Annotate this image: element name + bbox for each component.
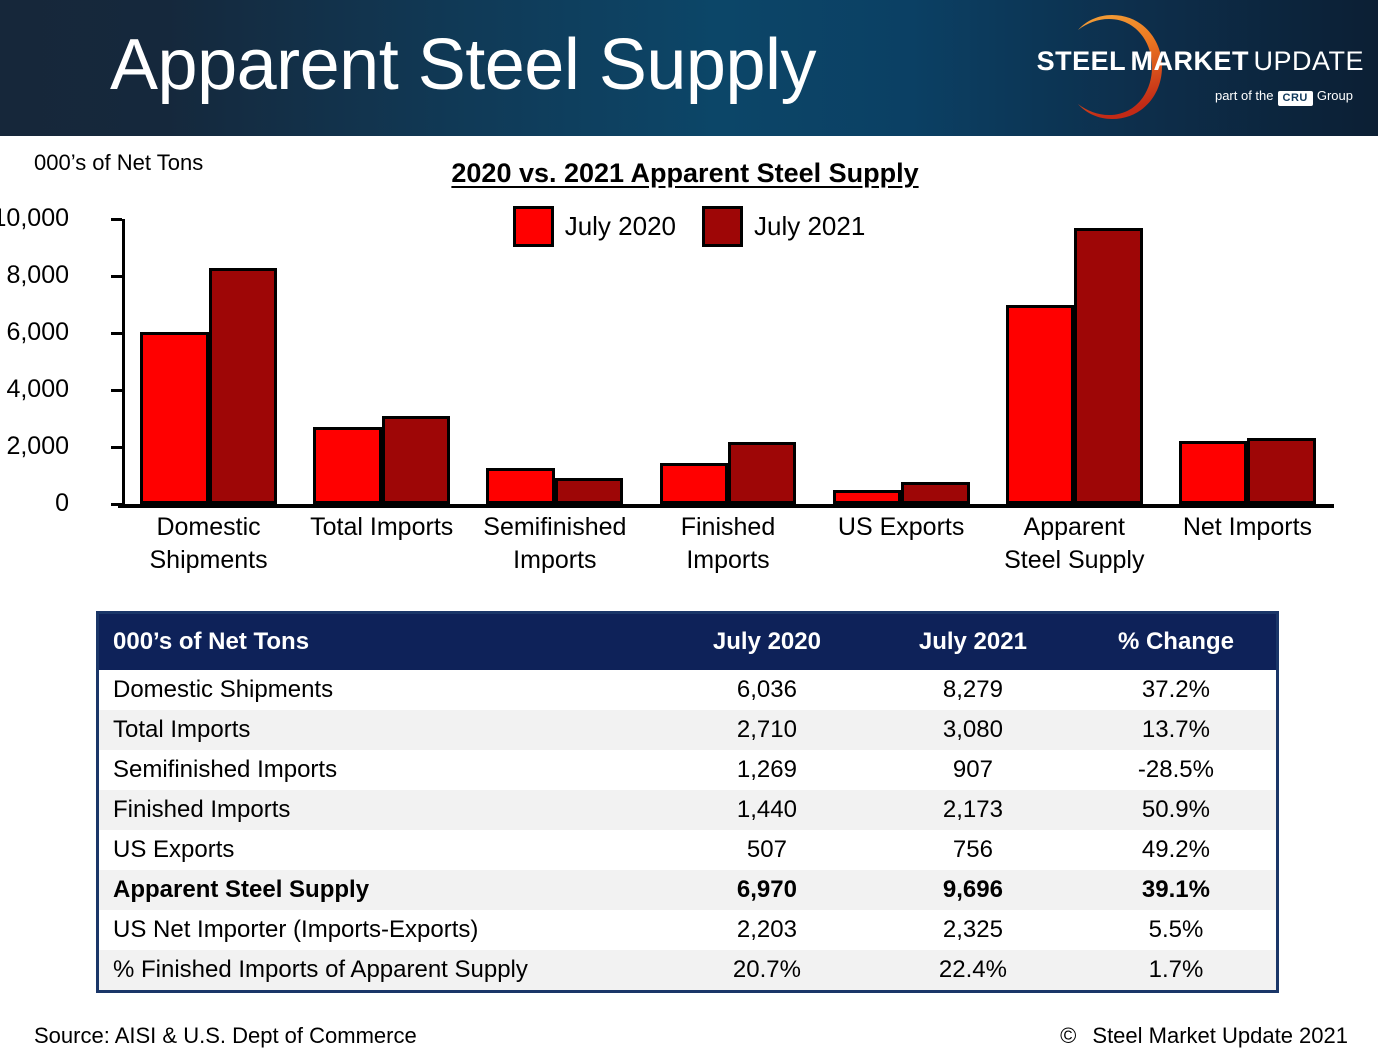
bar-july-2020 (1006, 305, 1074, 504)
bar-july-2020 (313, 427, 381, 504)
copyright-text: Steel Market Update 2021 (1092, 1023, 1348, 1048)
y-axis-tick (111, 446, 122, 449)
row-label: Finished Imports (99, 790, 664, 830)
x-axis-label-line: Semifinished (468, 511, 641, 544)
x-axis-label-line: US Exports (815, 511, 988, 544)
cell-july-2020: 20.7% (664, 950, 870, 990)
copyright-symbol: © (1060, 1023, 1076, 1048)
cell-july-2020: 2,710 (664, 710, 870, 750)
bar-july-2021 (728, 442, 796, 504)
chart-title-text: 2020 vs. 2021 Apparent Steel Supply (451, 158, 918, 188)
cell-july-2020: 2,203 (664, 910, 870, 950)
y-axis-tick (111, 218, 122, 221)
y-axis-tick-label: 10,000 (0, 206, 69, 231)
logo-sub-pre: part of the (1215, 88, 1274, 103)
cell-july-2020: 6,036 (664, 670, 870, 710)
bar-group (295, 219, 468, 504)
bar-july-2020 (140, 332, 208, 504)
cell-july-2021: 2,173 (870, 790, 1076, 830)
cell-pct-change: 49.2% (1076, 830, 1276, 870)
cell-pct-change: 39.1% (1076, 870, 1276, 910)
source-note: Source: AISI & U.S. Dept of Commerce (34, 1023, 417, 1049)
bar-group (815, 219, 988, 504)
cell-july-2021: 9,696 (870, 870, 1076, 910)
cell-july-2021: 907 (870, 750, 1076, 790)
bar-july-2021 (555, 478, 623, 504)
x-axis-category-label: SemifinishedImports (468, 511, 641, 577)
y-axis-tick-label: 8,000 (0, 263, 69, 288)
table-header-pct-change: % Change (1076, 614, 1276, 670)
x-axis-label-line: Imports (468, 544, 641, 577)
row-label: % Finished Imports of Apparent Supply (99, 950, 664, 990)
row-label: Apparent Steel Supply (99, 870, 664, 910)
bar-july-2021 (1074, 228, 1142, 504)
row-label: US Exports (99, 830, 664, 870)
x-axis-label-line: Imports (641, 544, 814, 577)
data-table: 000’s of Net Tons July 2020 July 2021 % … (96, 611, 1279, 993)
row-label: Domestic Shipments (99, 670, 664, 710)
x-axis-label-line: Finished (641, 511, 814, 544)
x-axis-category-label: DomesticShipments (122, 511, 295, 577)
y-axis-tick-label: 2,000 (0, 434, 69, 459)
table-header-july-2020: July 2020 (664, 614, 870, 670)
logo-subline: part of theCRUGroup (1004, 88, 1353, 105)
y-axis-tick (111, 503, 122, 506)
logo-wordmark: STEEL MARKET UPDATE (1004, 46, 1364, 77)
cell-july-2020: 1,440 (664, 790, 870, 830)
table-row: US Net Importer (Imports-Exports)2,2032,… (99, 910, 1276, 950)
cell-july-2020: 507 (664, 830, 870, 870)
y-axis-tick (111, 275, 122, 278)
logo-word-update: UPDATE (1253, 46, 1364, 76)
y-axis-tick-label: 6,000 (0, 320, 69, 345)
bar-july-2021 (1247, 438, 1315, 504)
table-row: Domestic Shipments6,0368,27937.2% (99, 670, 1276, 710)
table-header-metric: 000’s of Net Tons (99, 614, 664, 670)
bar-july-2021 (382, 416, 450, 504)
x-axis-category-label: FinishedImports (641, 511, 814, 577)
x-axis-label-line: Net Imports (1161, 511, 1334, 544)
chart-plot-area: 02,0004,0006,0008,00010,000DomesticShipm… (122, 219, 1334, 504)
bar-july-2020 (660, 463, 728, 504)
bar-july-2020 (1179, 441, 1247, 504)
cell-july-2020: 6,970 (664, 870, 870, 910)
cell-pct-change: 13.7% (1076, 710, 1276, 750)
cell-july-2020: 1,269 (664, 750, 870, 790)
table-row: Finished Imports1,4402,17350.9% (99, 790, 1276, 830)
y-axis-tick (111, 389, 122, 392)
cell-pct-change: 50.9% (1076, 790, 1276, 830)
table-header-row: 000’s of Net Tons July 2020 July 2021 % … (99, 614, 1276, 670)
x-axis-label-line: Apparent (988, 511, 1161, 544)
y-axis-tick-label: 4,000 (0, 377, 69, 402)
x-axis-category-label: US Exports (815, 511, 988, 544)
x-axis-label-line: Domestic (122, 511, 295, 544)
x-axis-label-line: Total Imports (295, 511, 468, 544)
cell-pct-change: -28.5% (1076, 750, 1276, 790)
logo-sub-post: Group (1317, 88, 1353, 103)
table-body: Domestic Shipments6,0368,27937.2%Total I… (99, 670, 1276, 990)
cell-july-2021: 2,325 (870, 910, 1076, 950)
table-row: Semifinished Imports1,269907-28.5% (99, 750, 1276, 790)
bar-group (468, 219, 641, 504)
row-label: Semifinished Imports (99, 750, 664, 790)
bar-group (122, 219, 295, 504)
row-label: US Net Importer (Imports-Exports) (99, 910, 664, 950)
bar-group (1161, 219, 1334, 504)
y-axis-tick-label: 0 (0, 491, 69, 516)
x-axis-category-label: Total Imports (295, 511, 468, 544)
cru-badge: CRU (1278, 91, 1313, 106)
cell-july-2021: 756 (870, 830, 1076, 870)
row-label: Total Imports (99, 710, 664, 750)
bar-july-2020 (833, 490, 901, 504)
logo-word-market: MARKET (1131, 46, 1250, 76)
table-row: Apparent Steel Supply6,9709,69639.1% (99, 870, 1276, 910)
bar-july-2021 (901, 482, 969, 504)
chart-title: 2020 vs. 2021 Apparent Steel Supply (0, 158, 1378, 189)
table-row: US Exports50775649.2% (99, 830, 1276, 870)
cell-july-2021: 3,080 (870, 710, 1076, 750)
page-title: Apparent Steel Supply (110, 22, 816, 108)
steel-market-update-logo: STEEL MARKET UPDATE part of theCRUGroup (1004, 10, 1364, 125)
x-axis-label-line: Steel Supply (988, 544, 1161, 577)
x-axis-category-label: Net Imports (1161, 511, 1334, 544)
bar-group (988, 219, 1161, 504)
cell-july-2021: 22.4% (870, 950, 1076, 990)
table-row: % Finished Imports of Apparent Supply20.… (99, 950, 1276, 990)
x-axis-line (118, 504, 1334, 508)
bar-july-2021 (209, 268, 277, 504)
x-axis-category-label: ApparentSteel Supply (988, 511, 1161, 577)
table-row: Total Imports2,7103,08013.7% (99, 710, 1276, 750)
cell-july-2021: 8,279 (870, 670, 1076, 710)
page-header: Apparent Steel Supply STEEL MARKET UPDAT… (0, 0, 1378, 136)
cell-pct-change: 1.7% (1076, 950, 1276, 990)
cell-pct-change: 5.5% (1076, 910, 1276, 950)
bar-group (641, 219, 814, 504)
logo-word-steel: STEEL (1037, 46, 1127, 76)
y-axis-tick (111, 332, 122, 335)
cell-pct-change: 37.2% (1076, 670, 1276, 710)
table-header-july-2021: July 2021 (870, 614, 1076, 670)
x-axis-label-line: Shipments (122, 544, 295, 577)
bar-july-2020 (486, 468, 554, 504)
copyright-note: ©Steel Market Update 2021 (1060, 1023, 1348, 1049)
